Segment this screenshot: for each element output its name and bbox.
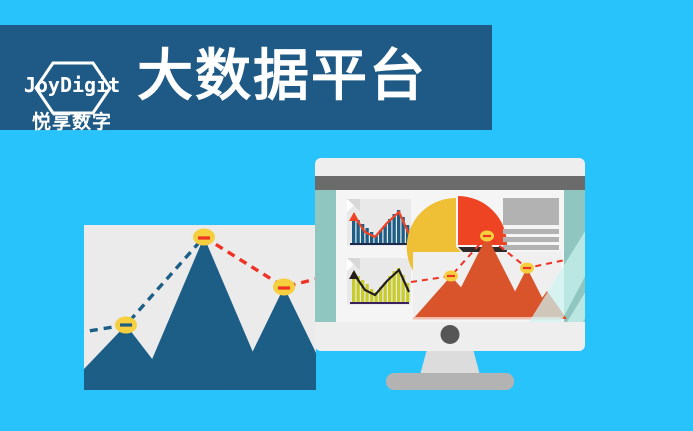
left-mountain-svg <box>84 225 316 390</box>
blue-bar-card[interactable] <box>347 199 411 246</box>
monitor-power-button[interactable] <box>441 325 460 344</box>
logo-wordmark: JoyDigit <box>24 73 120 97</box>
mountain-line-chart-panel <box>84 225 316 390</box>
monitor-screen <box>315 190 585 322</box>
brand-logo: JoyDigit 悦享数字 <box>14 61 130 143</box>
desktop-monitor <box>315 158 585 351</box>
olive-bar-card[interactable] <box>347 258 411 305</box>
text-block-placeholder <box>503 198 559 250</box>
monitor-bezel-top <box>315 176 585 190</box>
logo-subtitle: 悦享数字 <box>32 107 112 134</box>
monitor-base <box>386 373 514 390</box>
dashboard-content <box>315 190 585 322</box>
poster-canvas: JoyDigit 悦享数字 大数据平台 <box>0 0 693 431</box>
page-title: 大数据平台 <box>137 48 427 104</box>
